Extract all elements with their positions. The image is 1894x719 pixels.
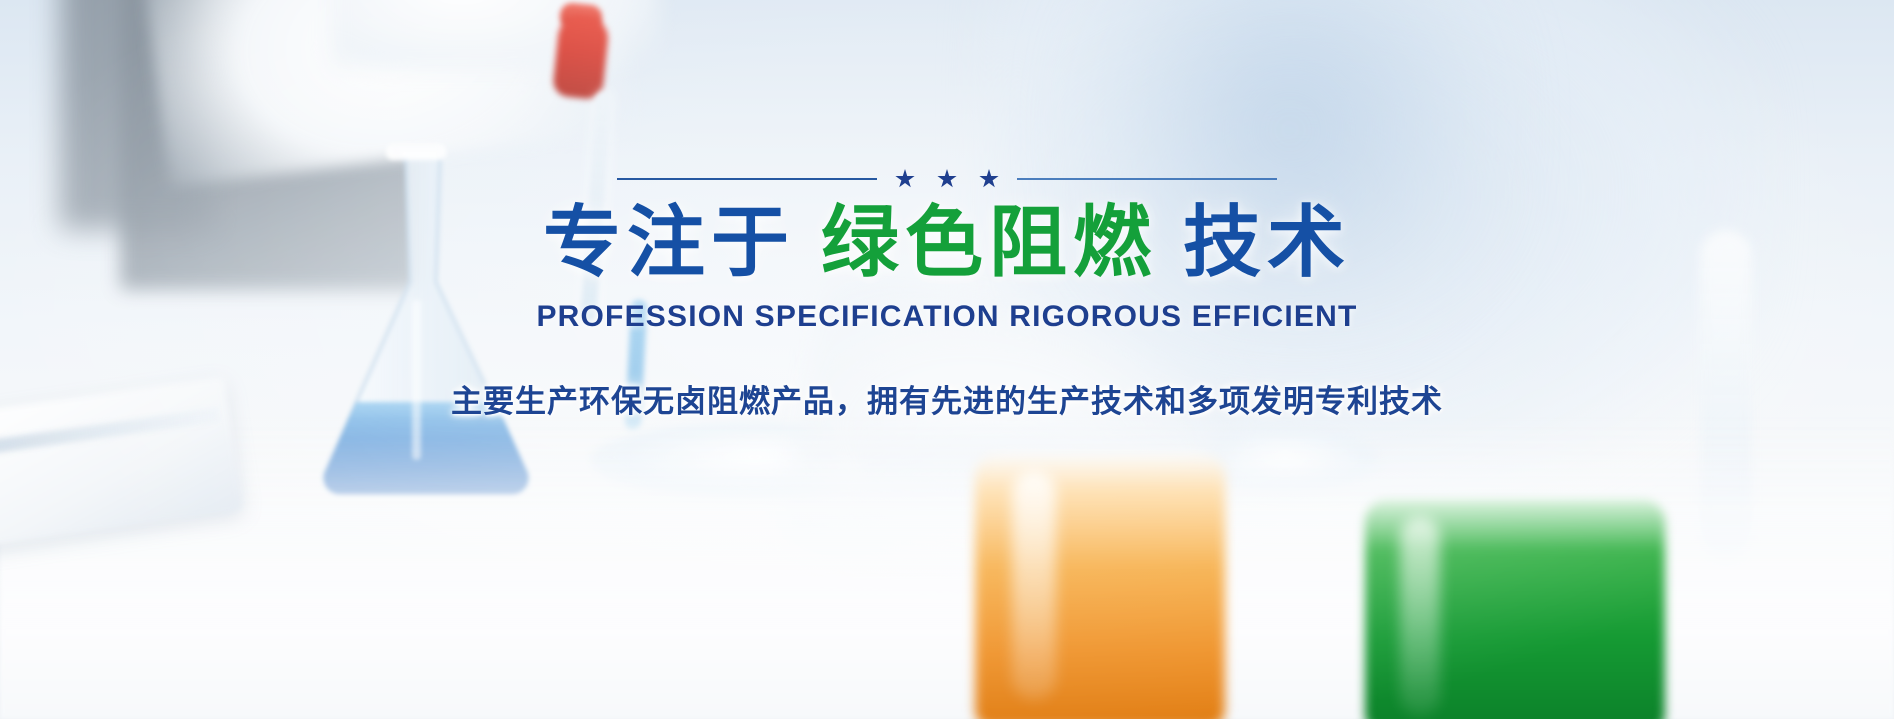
banner-subtitle: PROFESSION SPECIFICATION RIGOROUS EFFICI… xyxy=(536,300,1357,334)
divider-line-left xyxy=(617,178,877,180)
star-icon xyxy=(937,169,957,189)
banner-tagline: 主要生产环保无卤阻燃产品，拥有先进的生产技术和多项发明专利技术 xyxy=(451,376,1443,421)
banner-content: 专注于绿色阻燃技术 PROFESSION SPECIFICATION RIGOR… xyxy=(0,0,1894,719)
hero-banner: 专注于绿色阻燃技术 PROFESSION SPECIFICATION RIGOR… xyxy=(0,0,1894,719)
headline-part-2: 绿色阻燃 xyxy=(821,198,1157,286)
divider-line-right xyxy=(1017,178,1277,180)
banner-headline: 专注于绿色阻燃技术 xyxy=(543,200,1351,284)
star-icon xyxy=(895,169,915,189)
headline-part-1: 专注于 xyxy=(543,198,795,286)
decorative-rule-row xyxy=(617,168,1277,190)
star-icon xyxy=(979,169,999,189)
headline-part-3: 技术 xyxy=(1183,198,1351,286)
star-group xyxy=(895,169,999,189)
